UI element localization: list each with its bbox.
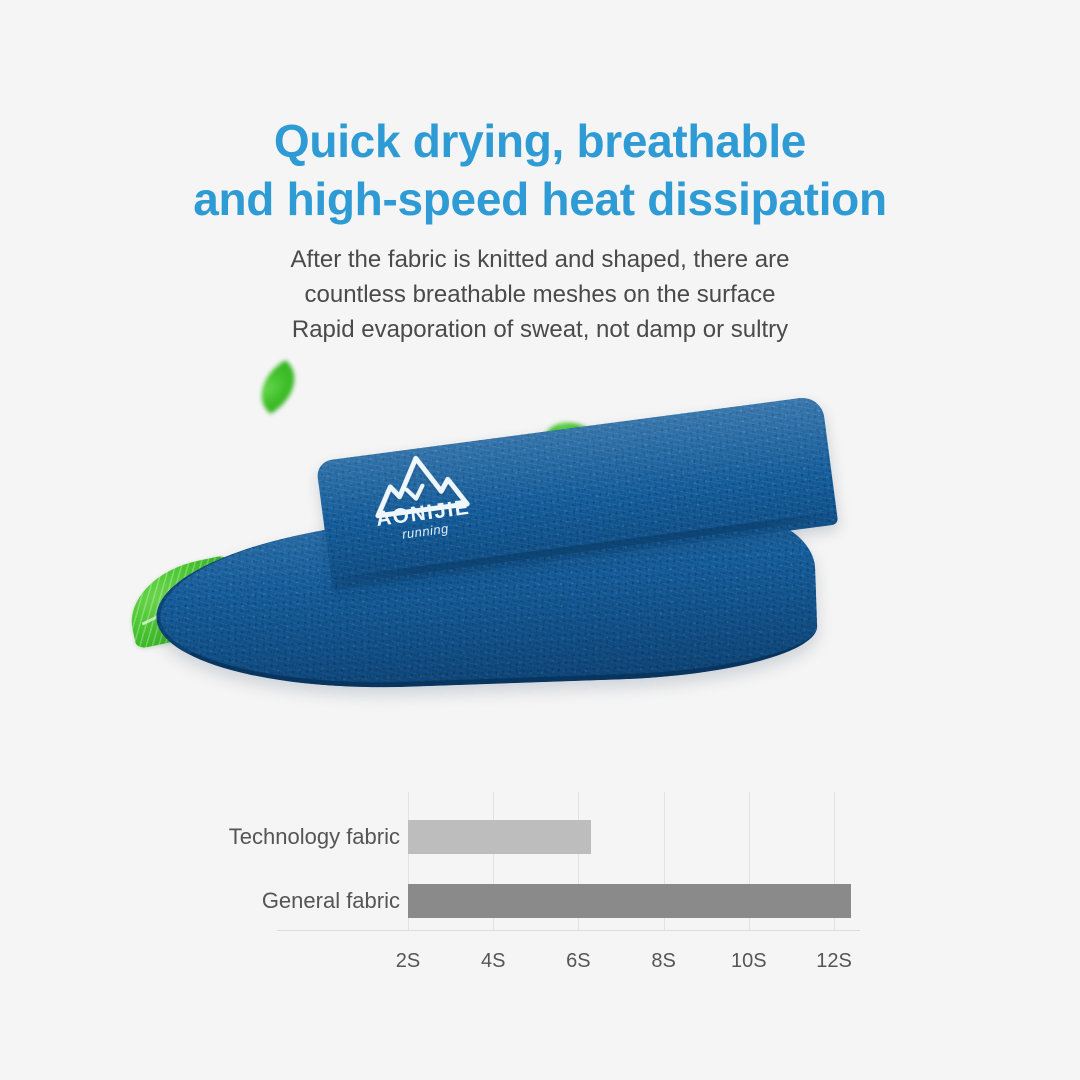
product-marketing-page: Quick drying, breathable and high-speed … <box>0 0 1080 1080</box>
chart-row: General fabric <box>408 884 860 918</box>
subcopy: After the fabric is knitted and shaped, … <box>0 242 1080 347</box>
chart-row: Technology fabric <box>408 820 860 854</box>
chart-category-label: Technology fabric <box>229 820 400 854</box>
chart-tick-label: 4S <box>481 950 505 973</box>
leaf-small-top <box>249 359 306 414</box>
subcopy-line-2: countless breathable meshes on the surfa… <box>0 277 1080 312</box>
subcopy-line-1: After the fabric is knitted and shaped, … <box>0 242 1080 277</box>
chart-tick-label: 8S <box>651 950 675 973</box>
chart-tick-label: 10S <box>731 950 767 973</box>
visor-cap: AONIJIE running <box>150 428 850 718</box>
page-title: Quick drying, breathable and high-speed … <box>0 112 1080 228</box>
chart-tick-label: 12S <box>816 950 852 973</box>
chart-bar <box>408 820 591 854</box>
drying-time-chart: 2S4S6S8S10S12STechnology fabricGeneral f… <box>0 780 1080 980</box>
chart-bar <box>408 884 851 918</box>
chart-category-label: General fabric <box>262 884 400 918</box>
chart-tick-label: 2S <box>396 950 420 973</box>
headline-line-1: Quick drying, breathable <box>274 115 806 167</box>
chart-plot-area: 2S4S6S8S10S12STechnology fabricGeneral f… <box>408 792 860 930</box>
subcopy-line-3: Rapid evaporation of sweat, not damp or … <box>0 312 1080 347</box>
product-image: AONIJIE running <box>0 360 1080 760</box>
chart-tick-label: 6S <box>566 950 590 973</box>
headline-line-2: and high-speed heat dissipation <box>0 170 1080 228</box>
chart-axis-line <box>277 930 860 931</box>
